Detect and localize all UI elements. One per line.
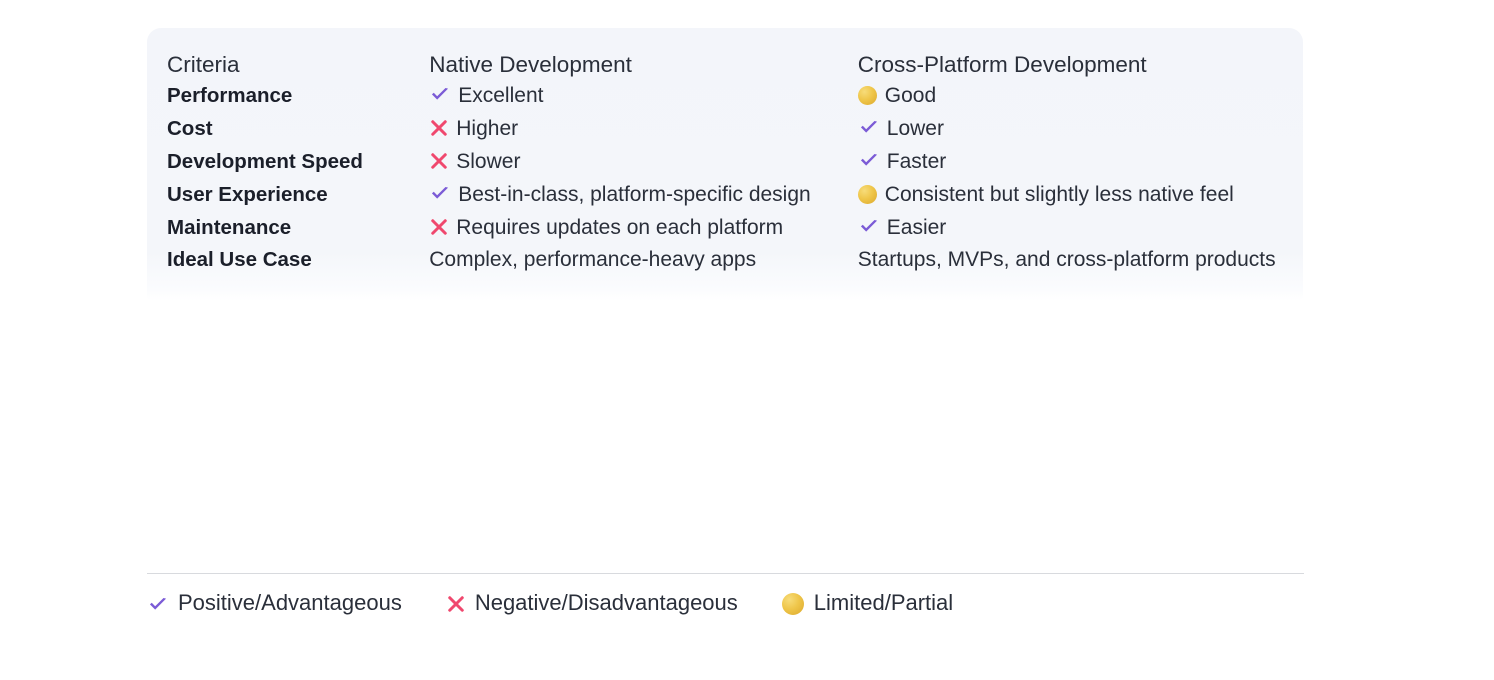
criteria-cell: Maintenance [167,212,429,245]
cross-platform-value-cell: Good [858,80,1283,113]
native-value-cell: Excellent [429,80,858,113]
cross-icon [429,151,449,171]
native-value-cell: Requires updates on each platform [429,212,858,245]
legend-item-label: Limited/Partial [814,592,953,616]
cell-text: Higher [456,117,518,140]
table-row: User ExperienceBest-in-class, platform-s… [167,179,1283,212]
native-value-cell: Slower [429,146,858,179]
legend-divider [147,573,1304,574]
legend-item-label: Positive/Advantageous [178,592,402,616]
table-row: PerformanceExcellentGood [167,80,1283,113]
check-icon [429,83,451,105]
native-value-cell: Best-in-class, platform-specific design [429,179,858,212]
legend-item-label: Negative/Disadvantageous [475,592,738,616]
legend-item: Limited/Partial [782,592,953,616]
criteria-cell: Performance [167,80,429,113]
comparison-page: Criteria Native Development Cross-Platfo… [0,0,1494,680]
check-icon [429,182,451,204]
criteria-cell: User Experience [167,179,429,212]
cell-text: Slower [456,150,520,173]
legend: Positive/AdvantageousNegative/Disadvanta… [147,592,997,616]
native-value-cell: Complex, performance-heavy apps [429,244,858,283]
native-value-cell: Higher [429,113,858,146]
check-icon [858,215,880,237]
cross-platform-value-cell: Easier [858,212,1283,245]
column-header-native-development: Native Development [429,50,858,80]
cross-platform-value-cell: Lower [858,113,1283,146]
cross-icon [429,217,449,237]
table-row: MaintenanceRequires updates on each plat… [167,212,1283,245]
criteria-cell: Cost [167,113,429,146]
cross-icon [446,594,466,614]
check-icon [858,116,880,138]
cell-text: Easier [887,216,947,239]
partial-icon [858,185,877,204]
partial-icon [782,593,804,615]
table-header: Criteria Native Development Cross-Platfo… [167,50,1283,80]
table-header-row: Criteria Native Development Cross-Platfo… [167,50,1283,80]
table-body: PerformanceExcellentGoodCostHigherLowerD… [167,80,1283,283]
criteria-cell: Development Speed [167,146,429,179]
column-header-cross-platform-development: Cross-Platform Development [858,50,1283,80]
table-row: Development SpeedSlowerFaster [167,146,1283,179]
cell-text: Excellent [458,84,543,107]
cross-platform-value-cell: Consistent but slightly less native feel [858,179,1283,212]
table-row: CostHigherLower [167,113,1283,146]
comparison-table-card: Criteria Native Development Cross-Platfo… [147,28,1303,301]
cell-text: Good [885,84,936,107]
cell-text: Startups, MVPs, and cross-platform produ… [858,248,1276,271]
cell-text: Best-in-class, platform-specific design [458,183,810,206]
partial-icon [858,86,877,105]
legend-item: Positive/Advantageous [147,592,402,616]
check-icon [147,593,169,615]
cell-text: Complex, performance-heavy apps [429,248,756,271]
cross-platform-value-cell: Startups, MVPs, and cross-platform produ… [858,244,1283,283]
cross-platform-value-cell: Faster [858,146,1283,179]
cell-text: Lower [887,117,944,140]
legend-item: Negative/Disadvantageous [446,592,738,616]
cross-icon [429,118,449,138]
criteria-cell: Ideal Use Case [167,244,429,283]
check-icon [858,149,880,171]
cell-text: Faster [887,150,947,173]
table-row: Ideal Use CaseComplex, performance-heavy… [167,244,1283,283]
cell-text: Requires updates on each platform [456,216,783,239]
cell-text: Consistent but slightly less native feel [885,183,1234,206]
comparison-table: Criteria Native Development Cross-Platfo… [167,50,1283,283]
column-header-criteria: Criteria [167,50,429,80]
